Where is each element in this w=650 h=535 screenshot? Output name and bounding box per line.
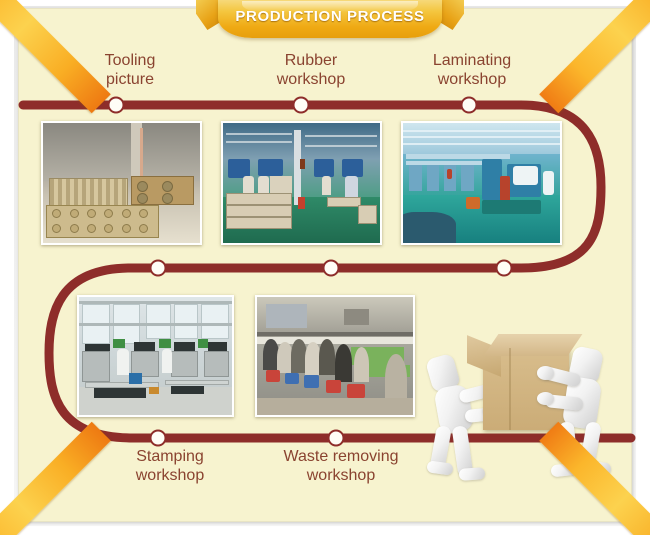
photo-rubber-workshop — [221, 121, 382, 245]
process-node-4 — [150, 260, 167, 277]
corner-ribbon-top-left — [0, 0, 150, 150]
process-node-5 — [323, 260, 340, 277]
step-label-rubber-workshop: Rubber workshop — [241, 51, 381, 89]
corner-ribbon-bottom-right — [500, 385, 650, 535]
corner-ribbon-top-right — [500, 0, 650, 150]
process-node-3 — [461, 97, 478, 114]
banner-title-text: PRODUCTION PROCESS — [196, 8, 464, 25]
corner-ribbon-bottom-left — [0, 385, 150, 535]
photo-waste-removing-workshop — [255, 295, 415, 417]
process-node-7 — [150, 430, 167, 447]
production-process-infographic: Tooling picture Rubber workshop Laminati… — [0, 0, 650, 535]
process-node-6 — [496, 260, 513, 277]
step-label-waste-removing-workshop: Waste removing workshop — [251, 447, 431, 485]
title-banner: PRODUCTION PROCESS — [196, 0, 464, 44]
process-node-8 — [328, 430, 345, 447]
process-node-2 — [293, 97, 310, 114]
